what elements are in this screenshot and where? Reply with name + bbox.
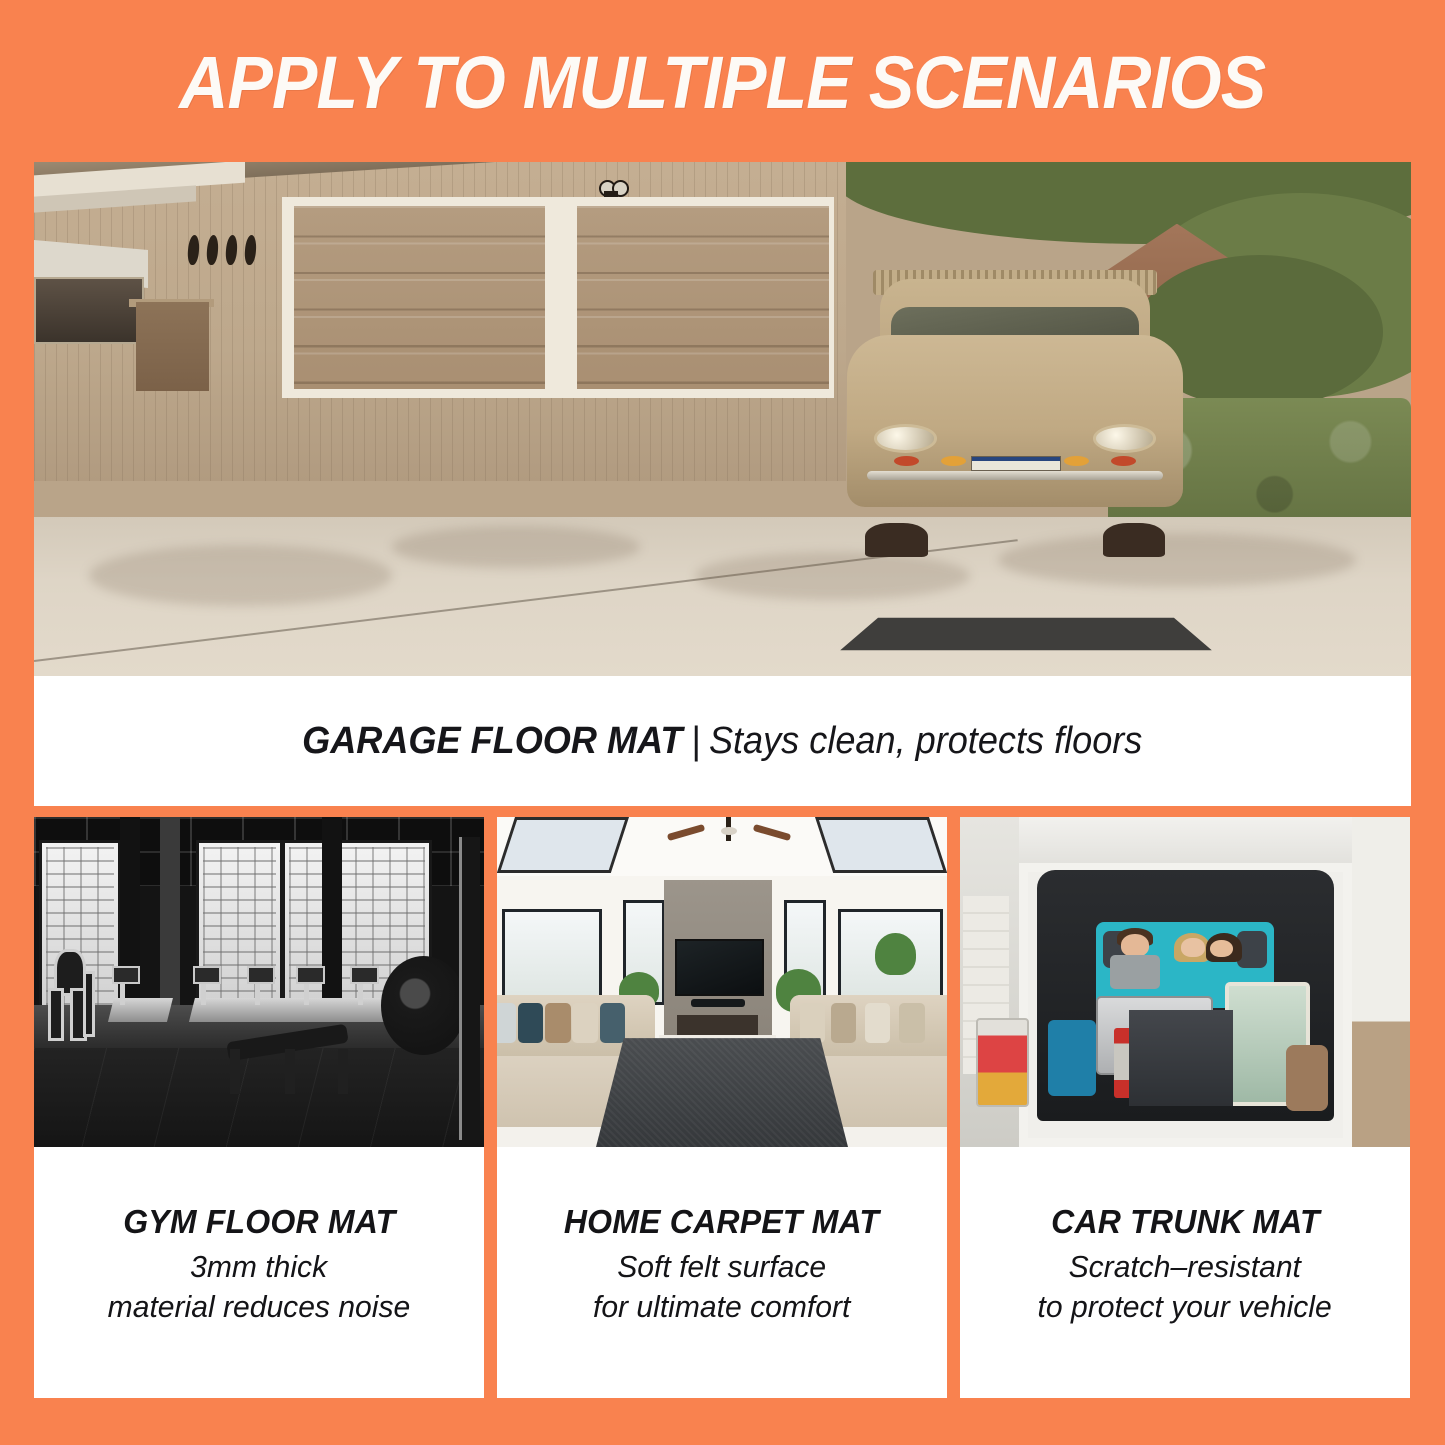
home-sub-line1: Soft felt surface	[618, 1247, 827, 1287]
vintage-car	[833, 255, 1198, 563]
feature-card-trunk: CAR TRUNK MAT Scratch–resistant to prote…	[960, 817, 1410, 1398]
pillow-6	[800, 1003, 826, 1043]
feature-card-row: GYM FLOOR MAT 3mm thick material reduces…	[34, 817, 1411, 1398]
house-number	[188, 235, 256, 265]
living-room-image	[497, 817, 947, 1147]
feature-card-home: HOME CARPET MAT Soft felt surface for ul…	[497, 817, 947, 1398]
pillow-3	[545, 1003, 571, 1043]
pillow-7	[831, 1003, 857, 1043]
treadmill-1	[111, 966, 170, 1022]
hero-caption-line: GARAGE FLOOR MAT|Stays clean, protects f…	[302, 720, 1142, 763]
skylight-left	[497, 817, 629, 873]
turn-signal-right	[1064, 456, 1089, 466]
living-room-scene	[497, 817, 947, 1147]
hero-caption-panel: GARAGE FLOOR MAT|Stays clean, protects f…	[34, 676, 1411, 806]
garage-door-left	[294, 206, 545, 389]
soundbar	[691, 999, 745, 1008]
headlight-left	[874, 424, 937, 452]
garage-scene	[34, 162, 1411, 676]
pillow-9	[899, 1003, 925, 1043]
hero-caption-separator: |	[691, 720, 700, 762]
girl-face	[1210, 940, 1233, 958]
elliptical-machine	[48, 949, 116, 1035]
hero-image-garage	[34, 162, 1411, 676]
power-rack	[459, 837, 480, 1141]
hero-caption-regular: Stays clean, protects floors	[709, 720, 1142, 762]
skylight-right	[815, 817, 947, 873]
home-title: HOME CARPET MAT	[564, 1203, 879, 1241]
treadmill-4	[295, 966, 354, 1022]
tail-light	[976, 1018, 1030, 1108]
pillow-8	[865, 1003, 891, 1043]
car-body	[847, 335, 1183, 508]
mother-face	[1181, 938, 1204, 957]
car-trunk-scene	[960, 817, 1410, 1147]
feature-card-gym: GYM FLOOR MAT 3mm thick material reduces…	[34, 817, 484, 1398]
home-text-panel: HOME CARPET MAT Soft felt surface for ul…	[497, 1147, 947, 1398]
trunk-opening	[1037, 870, 1334, 1121]
header-banner: APPLY TO MULTIPLE SCENARIOS	[0, 0, 1445, 162]
home-sub-line2: for ultimate comfort	[593, 1287, 850, 1327]
boy-face	[1121, 934, 1150, 956]
gym-sub-line1: 3mm thick	[190, 1247, 327, 1287]
car-trunk-image	[960, 817, 1410, 1147]
garage-door-frame	[282, 197, 834, 398]
wheel-left	[865, 523, 927, 557]
marker-light-left	[894, 456, 919, 466]
treadmill-2	[192, 966, 251, 1022]
license-plate	[971, 456, 1060, 471]
house-facade	[34, 162, 846, 481]
gym-sub-line2: material reduces noise	[108, 1287, 411, 1327]
trunk-sub-line1: Scratch–resistant	[1069, 1247, 1301, 1287]
wheel-right	[1103, 523, 1165, 557]
blanket-bundle	[1286, 1045, 1328, 1110]
marker-light-right	[1111, 456, 1136, 466]
page-title: APPLY TO MULTIPLE SCENARIOS	[179, 46, 1265, 120]
gym-image	[34, 817, 484, 1147]
front-bumper	[867, 471, 1162, 480]
poster-root: APPLY TO MULTIPLE SCENARIOS	[0, 0, 1445, 1445]
boy-shirt	[1110, 955, 1160, 989]
gym-text-panel: GYM FLOOR MAT 3mm thick material reduces…	[34, 1147, 484, 1398]
ceiling-fan-icon	[695, 817, 763, 870]
hero-caption-bold: GARAGE FLOOR MAT	[302, 720, 682, 762]
driveway	[34, 517, 1411, 676]
gym-scene	[34, 817, 484, 1147]
car-trunk-mat-product	[1129, 1010, 1233, 1105]
trunk-text-panel: CAR TRUNK MAT Scratch–resistant to prote…	[960, 1147, 1410, 1398]
barbell-plate	[381, 956, 467, 1055]
gym-title: GYM FLOOR MAT	[123, 1203, 395, 1241]
window-far-left	[502, 909, 603, 1001]
house-window	[34, 277, 144, 345]
home-carpet-mat-product	[596, 1038, 848, 1147]
pillow-2	[518, 1003, 544, 1043]
headlight-right	[1093, 424, 1156, 452]
plant-far-right	[875, 933, 916, 976]
brick-wall	[136, 302, 209, 391]
trunk-title: CAR TRUNK MAT	[1051, 1203, 1320, 1241]
television	[675, 939, 765, 996]
pillow-5	[600, 1003, 626, 1043]
fireplace	[677, 1015, 758, 1035]
garage-door-right	[577, 206, 828, 389]
pillow-4	[572, 1003, 598, 1043]
pillow-1	[497, 1003, 516, 1043]
turn-signal-left	[941, 456, 966, 466]
blue-sleeping-bag	[1048, 1020, 1096, 1095]
weight-bench	[219, 1022, 363, 1095]
trunk-sub-line2: to protect your vehicle	[1038, 1287, 1332, 1327]
